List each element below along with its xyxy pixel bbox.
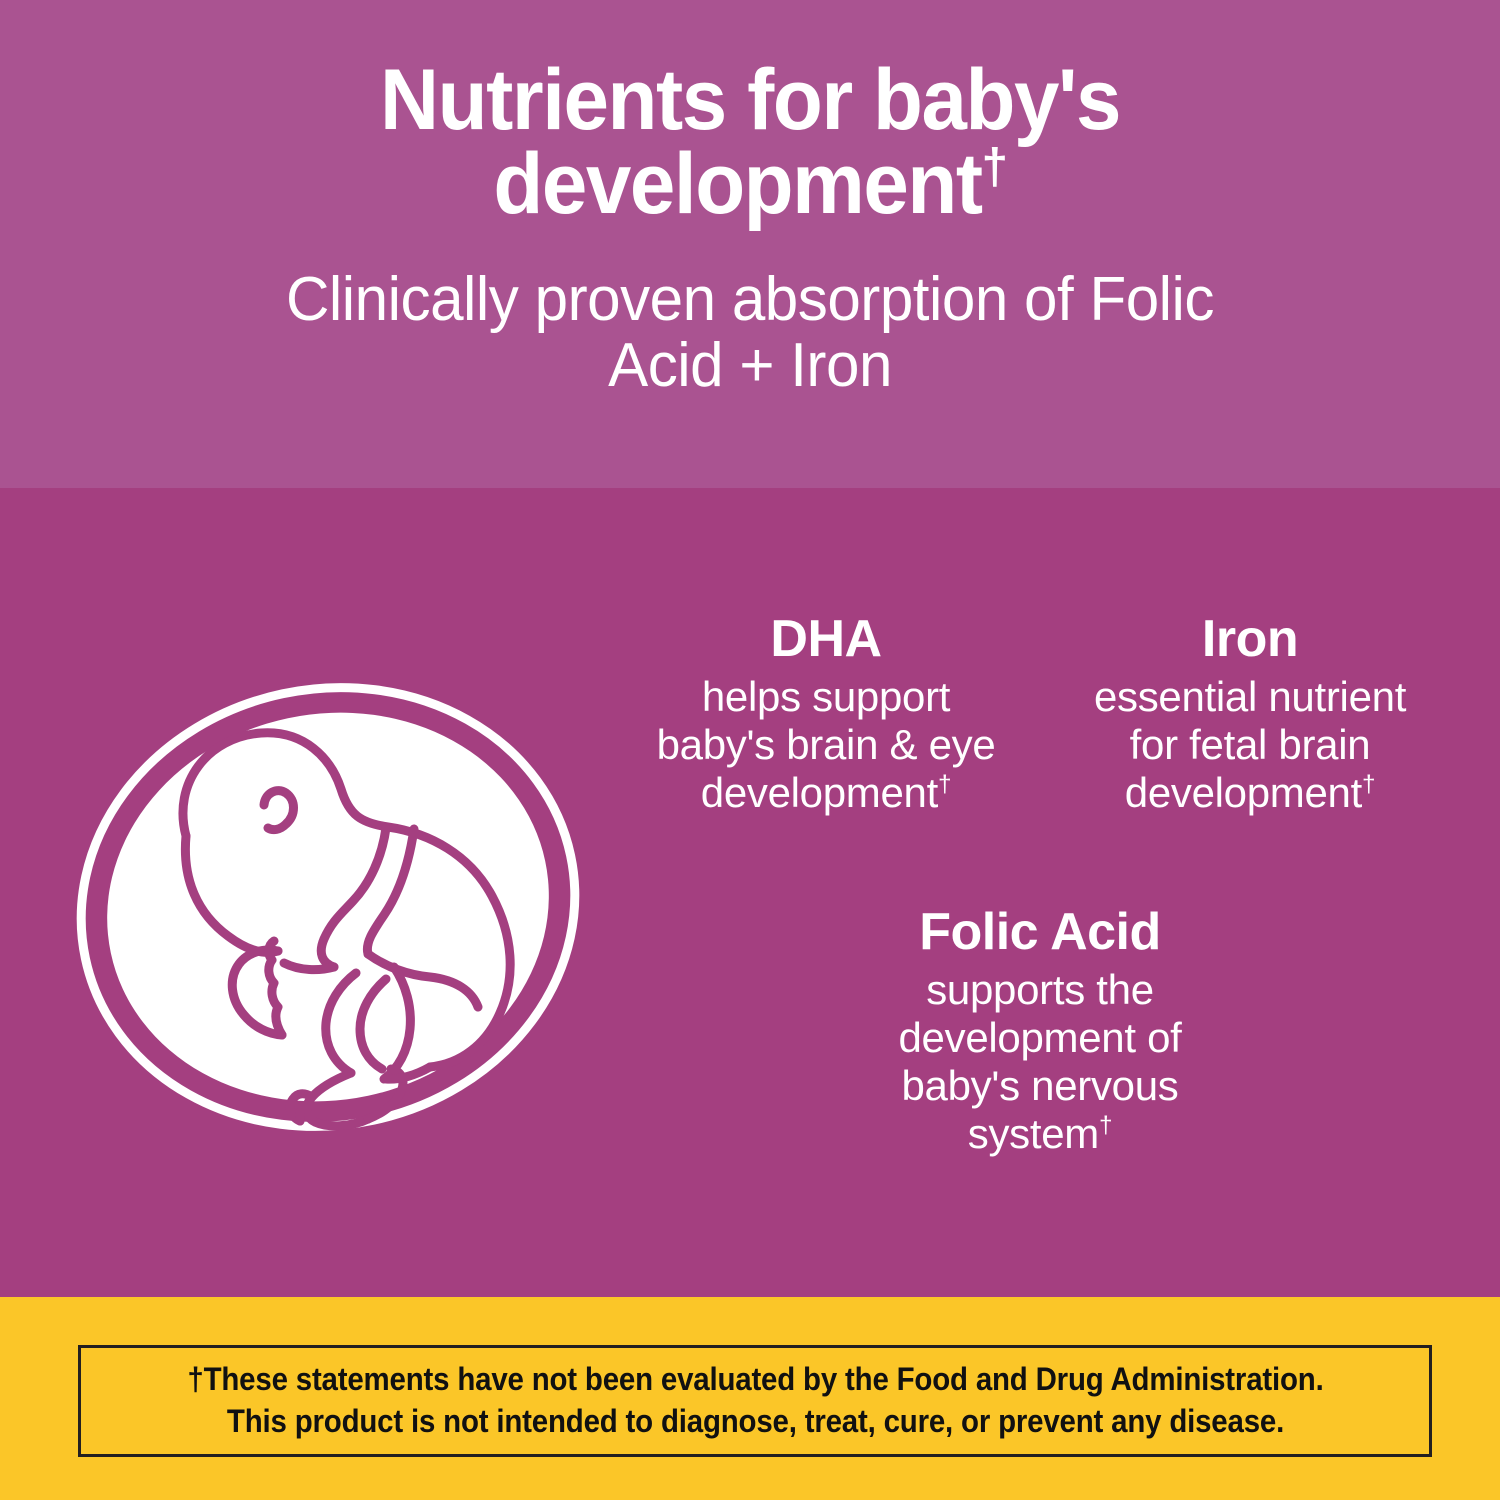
nutrient-title-folic-acid: Folic Acid (805, 905, 1275, 960)
nutrient-title-iron: Iron (1040, 612, 1460, 667)
nutrient-block-dha: DHA helps support baby's brain & eye dev… (600, 612, 1052, 817)
nutrient-dagger-dha: † (938, 771, 951, 798)
fetus-in-womb-illustration (68, 655, 588, 1160)
page-title-text: Nutrients for baby's development (380, 52, 1120, 232)
nutrient-dagger-iron: † (1362, 771, 1375, 798)
nutrient-description-text-folic-acid: supports the development of baby's nervo… (899, 966, 1182, 1157)
nutrient-description-dha: helps support baby's brain & eye develop… (600, 673, 1052, 817)
nutrient-description-folic-acid: supports the development of baby's nervo… (805, 966, 1275, 1158)
nutrient-description-iron: essential nutrient for fetal brain devel… (1040, 673, 1460, 817)
nutrient-dagger-folic-acid: † (1099, 1112, 1112, 1139)
nutrient-title-dha: DHA (600, 612, 1052, 667)
page-title: Nutrients for baby's development† (228, 58, 1273, 227)
nutrient-description-text-iron: essential nutrient for fetal brain devel… (1094, 673, 1406, 816)
product-infographic: Nutrients for baby's development† Clinic… (0, 0, 1500, 1500)
page-subtitle: Clinically proven absorption of Folic Ac… (226, 267, 1274, 401)
disclaimer-box: †These statements have not been evaluate… (78, 1345, 1432, 1457)
womb-inner-sac (71, 672, 586, 1142)
header-band: Nutrients for baby's development† Clinic… (0, 0, 1500, 488)
nutrient-block-iron: Iron essential nutrient for fetal brain … (1040, 612, 1460, 817)
page-title-dagger: † (982, 139, 1007, 195)
disclaimer-band: †These statements have not been evaluate… (0, 1297, 1500, 1500)
nutrient-block-folic-acid: Folic Acid supports the development of b… (805, 905, 1275, 1158)
fetus-icon (68, 655, 588, 1160)
disclaimer-text: †These statements have not been evaluate… (187, 1359, 1323, 1442)
